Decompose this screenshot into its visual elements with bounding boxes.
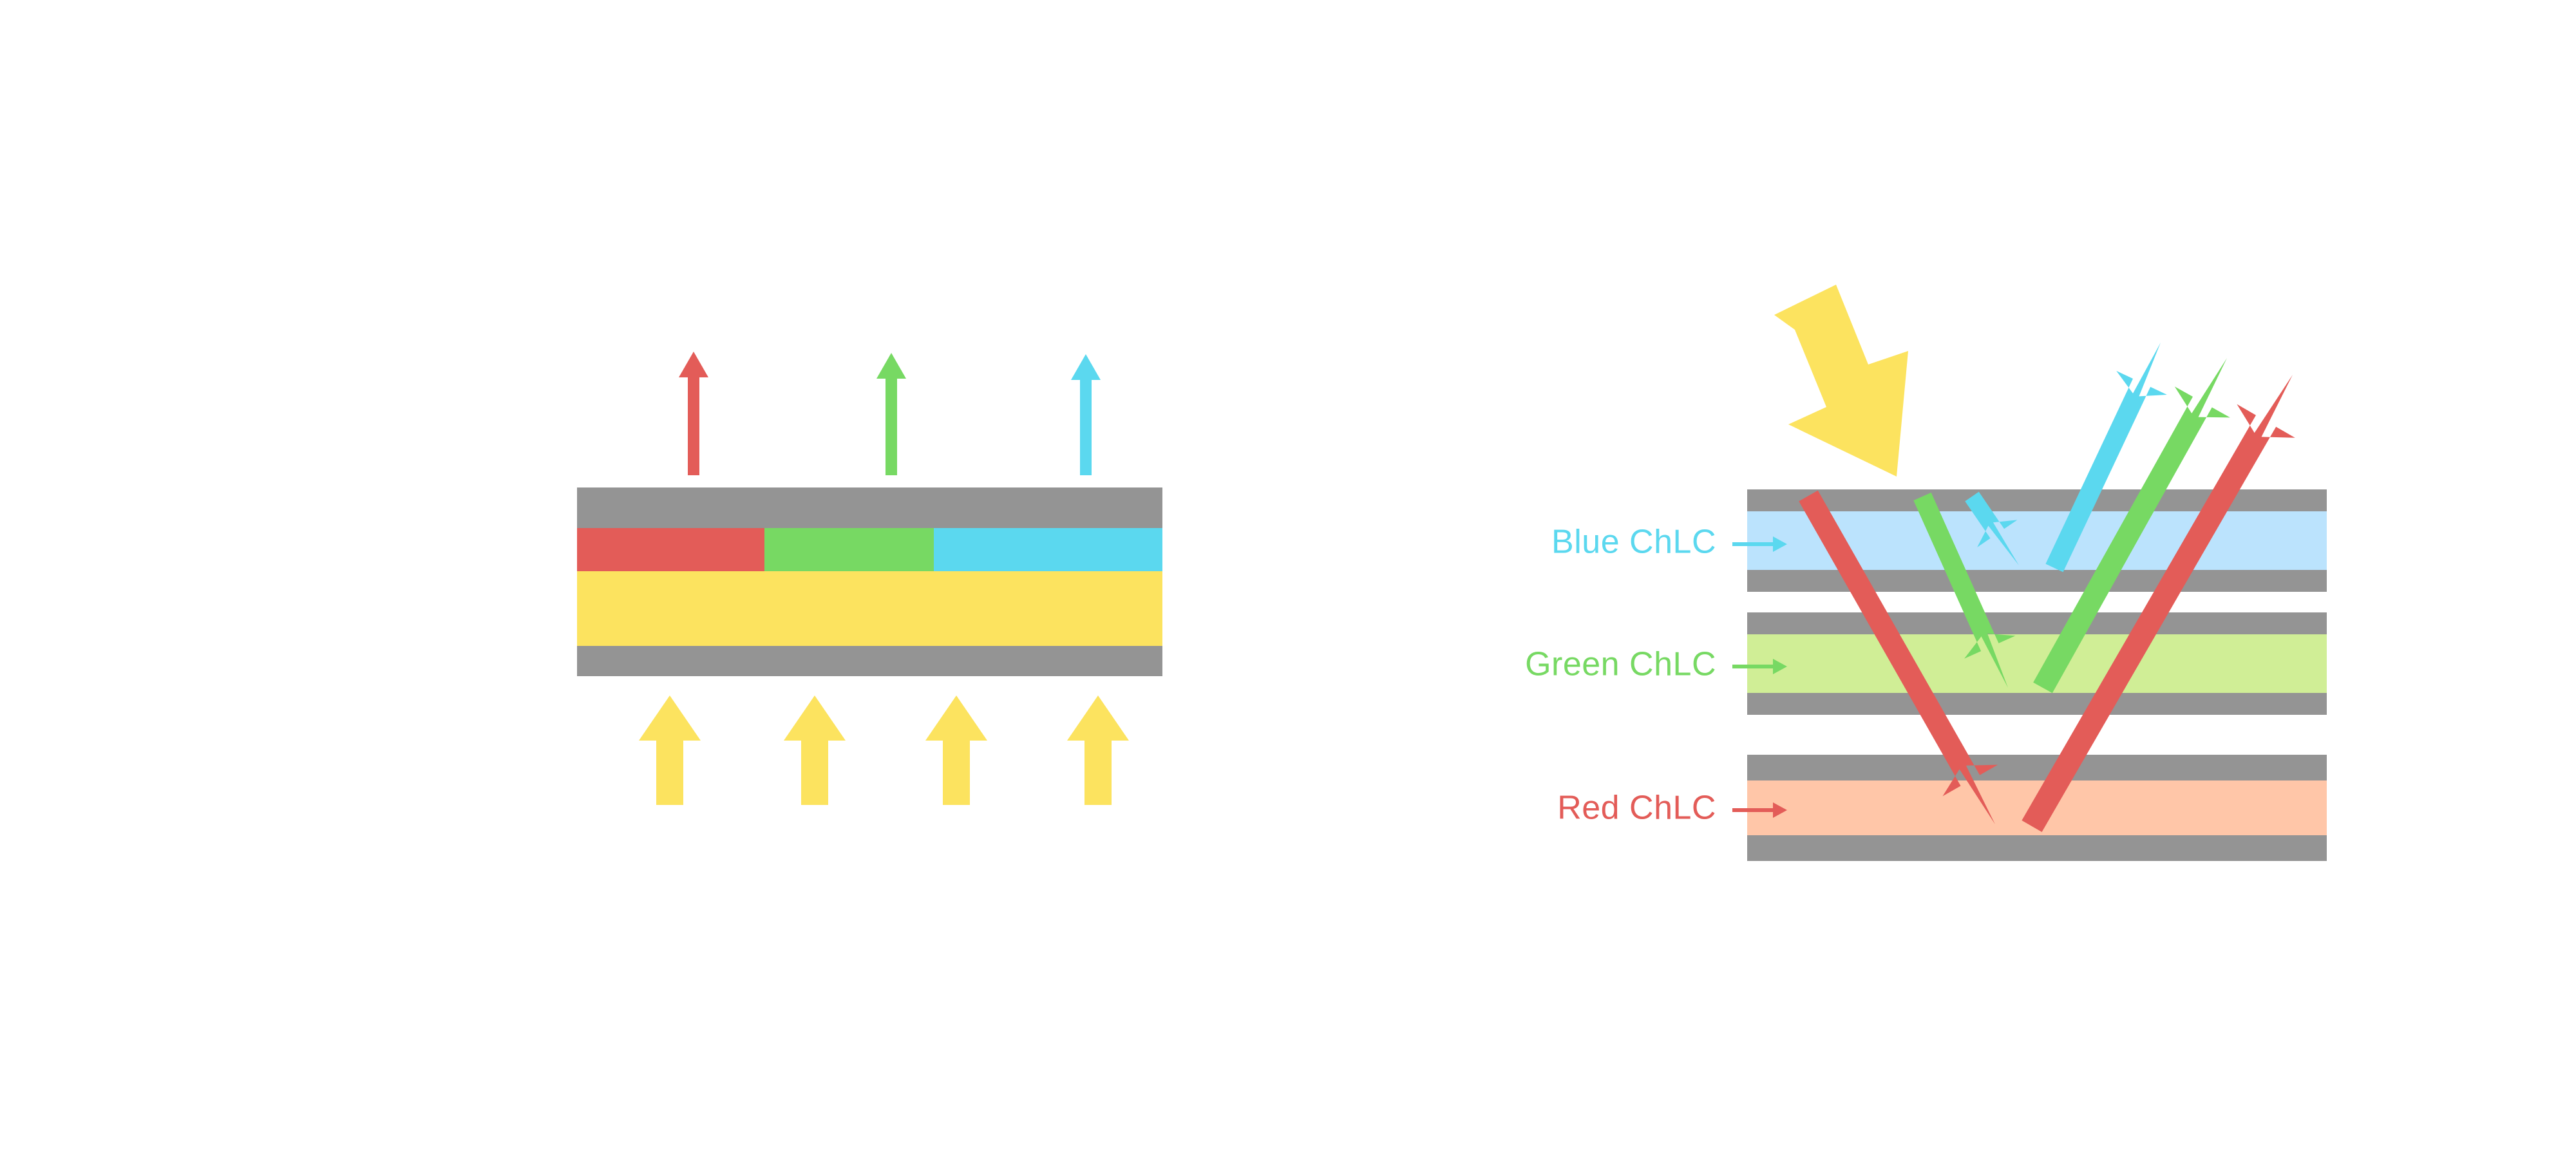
diagram-canvas: Blue ChLCGreen ChLCRed ChLC [0, 0, 2576, 1154]
green-cell-bottom-substrate [1747, 693, 2327, 715]
bottom-electrode [577, 646, 1162, 676]
diagram-root: Blue ChLCGreen ChLCRed ChLC [0, 0, 2576, 1154]
yellow-backlight-layer [577, 571, 1162, 646]
label-green-chlc: Green ChLC [1525, 646, 1716, 683]
label-red-chlc: Red ChLC [1557, 790, 1716, 827]
red-cell-top-substrate [1747, 755, 2327, 780]
top-electrode [577, 487, 1162, 528]
left-stack-layers [577, 487, 1162, 676]
cyan-filter [934, 528, 1162, 571]
red-filter [577, 528, 764, 571]
green-filter [764, 528, 934, 571]
red-cell-bottom-substrate [1747, 835, 2327, 861]
blue-cell-bottom-substrate [1747, 570, 2327, 592]
green-cell-top-substrate [1747, 612, 2327, 634]
label-blue-chlc: Blue ChLC [1551, 524, 1716, 561]
blue-cell-top-substrate [1747, 489, 2327, 511]
